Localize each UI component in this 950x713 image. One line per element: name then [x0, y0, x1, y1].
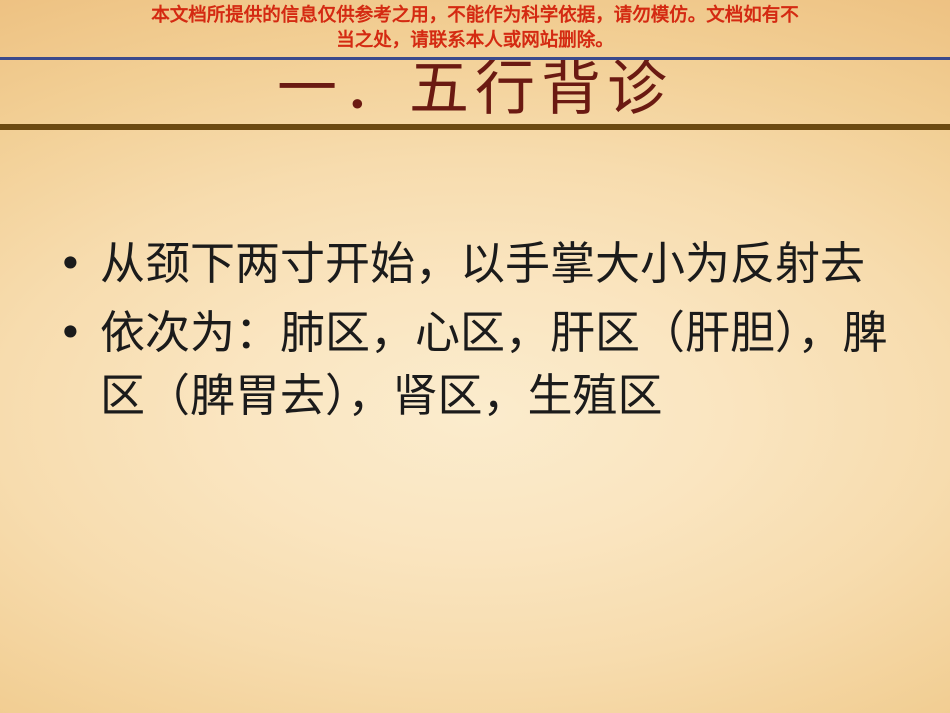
- disclaimer-line-2: 当之处，请联系本人或网站删除。: [10, 28, 940, 53]
- list-item: • 从颈下两寸开始，以手掌大小为反射去: [52, 232, 912, 295]
- slide-title: 一．五行背诊: [0, 52, 950, 126]
- list-item-text: 依次为：肺区，心区，肝区（肝胆），脾区（脾胃去），肾区，生殖区: [100, 301, 912, 427]
- title-rule-bottom: [0, 124, 950, 130]
- title-rule-top: [0, 57, 950, 60]
- slide-body: • 从颈下两寸开始，以手掌大小为反射去 • 依次为：肺区，心区，肝区（肝胆），脾…: [52, 232, 912, 433]
- bullet-marker-icon: •: [58, 301, 83, 364]
- bullet-marker-icon: •: [58, 232, 83, 295]
- disclaimer-banner: 本文档所提供的信息仅供参考之用，不能作为科学依据，请勿模仿。文档如有不 当之处，…: [0, 0, 950, 57]
- list-item: • 依次为：肺区，心区，肝区（肝胆），脾区（脾胃去），肾区，生殖区: [52, 301, 912, 427]
- presentation-slide: 本文档所提供的信息仅供参考之用，不能作为科学依据，请勿模仿。文档如有不 当之处，…: [0, 0, 950, 713]
- disclaimer-line-1: 本文档所提供的信息仅供参考之用，不能作为科学依据，请勿模仿。文档如有不: [10, 3, 940, 28]
- list-item-text: 从颈下两寸开始，以手掌大小为反射去: [100, 232, 912, 295]
